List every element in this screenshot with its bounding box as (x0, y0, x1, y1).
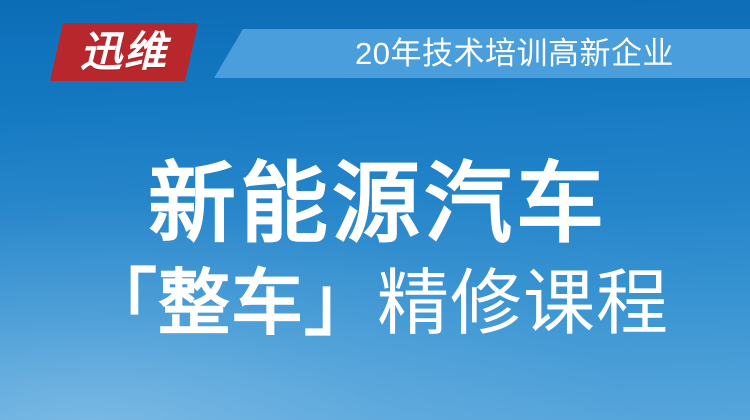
title-block: 新能源汽车 「整车」精修课程 (0, 160, 750, 340)
header-band: 20年技术培训高新企业 迅维 (0, 0, 750, 104)
tagline-text: 20年技术培训高新企业 (214, 29, 750, 78)
page-subtitle-rest: 精修课程 (377, 264, 669, 344)
brand-logo-text: 迅维 (50, 23, 198, 81)
page-subtitle: 「整车」精修课程 (0, 268, 750, 340)
page-subtitle-emphasis: 「整车」 (85, 264, 377, 344)
poster-root: 20年技术培训高新企业 迅维 新能源汽车 「整车」精修课程 (0, 0, 750, 420)
page-title: 新能源汽车 (0, 160, 750, 248)
